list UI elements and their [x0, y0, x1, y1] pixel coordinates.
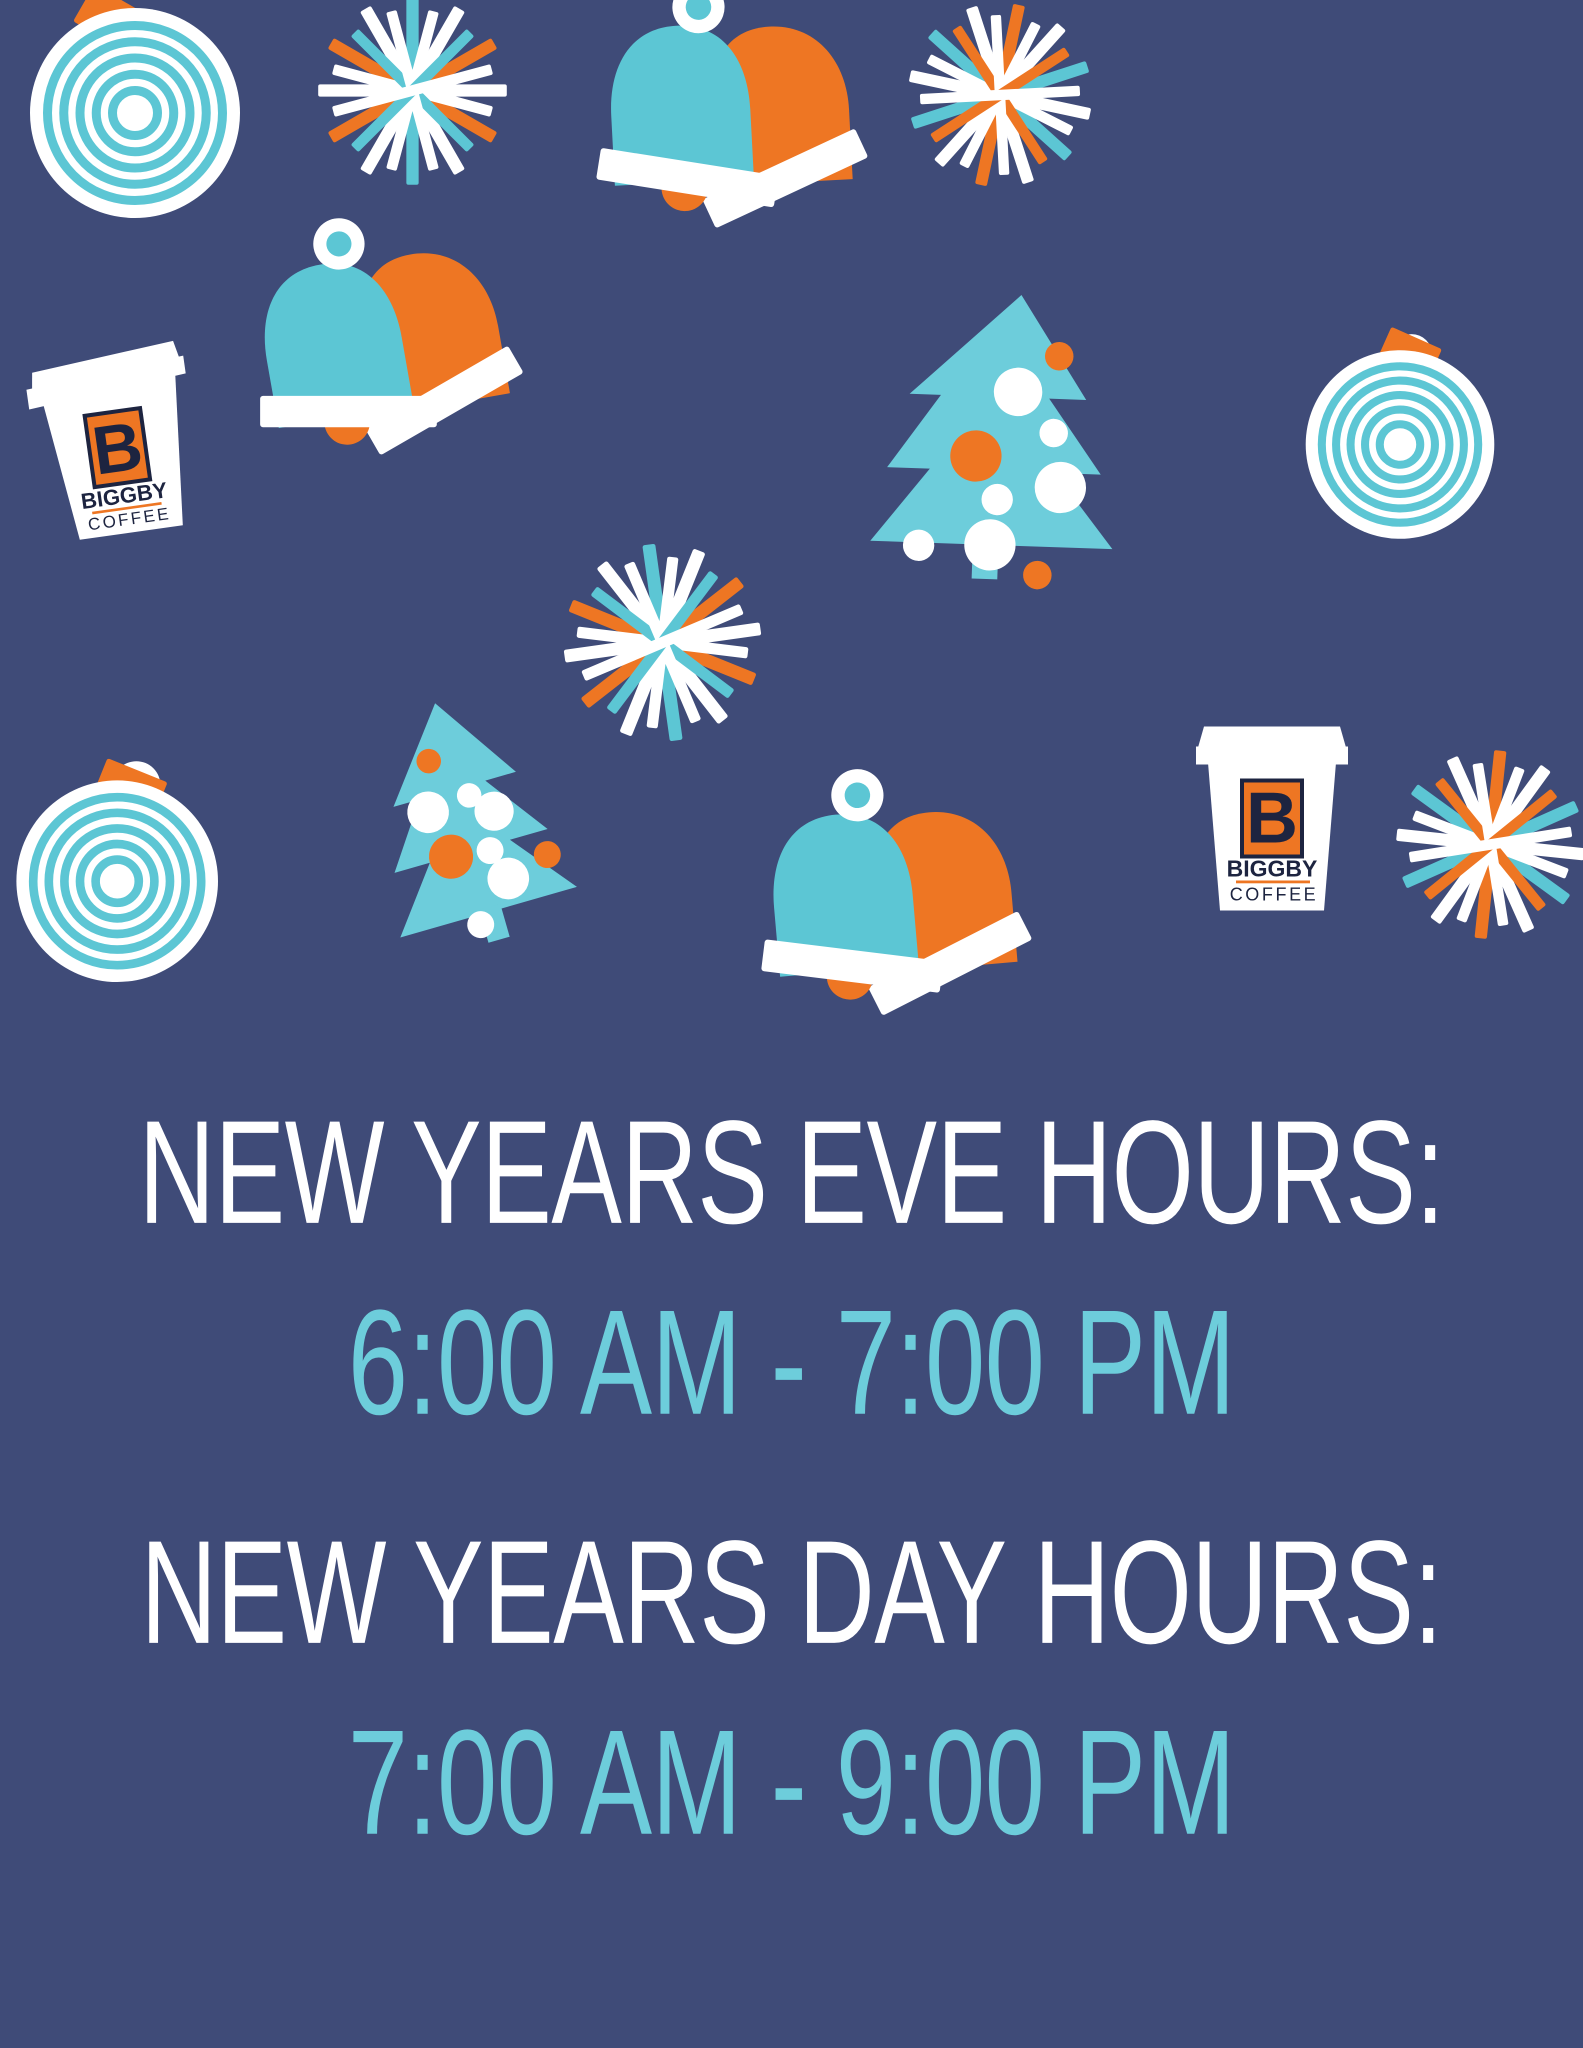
christmas-tree-decoration	[840, 282, 1125, 582]
christmas-tree-decoration	[345, 685, 590, 950]
svg-text:B: B	[1246, 779, 1298, 859]
starburst-icon	[310, 0, 515, 193]
ornament-ball-decoration	[10, 0, 260, 228]
holiday-hours-poster: B BIGGBY COFFEE	[0, 0, 1583, 2048]
ornament-ball-decoration	[2, 742, 242, 982]
coffee-cup-decoration: B BIGGBY COFFEE	[14, 318, 214, 548]
new-years-day-hours: 7:00 AM - 9:00 PM	[47, 1709, 1535, 1859]
new-years-day-heading: NEW YEARS DAY HOURS:	[63, 1520, 1519, 1667]
new-years-eve-heading: NEW YEARS EVE HOURS:	[63, 1100, 1519, 1247]
bell-pair-decoration	[730, 752, 1055, 1042]
bell-pair-decoration	[565, 0, 895, 255]
svg-text:BIGGBY: BIGGBY	[1227, 856, 1318, 882]
decoration-band: B BIGGBY COFFEE	[0, 0, 1583, 1060]
hours-announcement: NEW YEARS EVE HOURS: 6:00 AM - 7:00 PM N…	[0, 1100, 1583, 2048]
svg-text:B: B	[88, 408, 147, 490]
svg-text:COFFEE: COFFEE	[1230, 885, 1319, 905]
starburst-icon	[900, 0, 1100, 195]
coffee-cup-decoration: B BIGGBY COFFEE	[1172, 688, 1372, 923]
bell-pair-decoration	[222, 198, 542, 483]
new-years-eve-hours: 6:00 AM - 7:00 PM	[47, 1289, 1535, 1439]
starburst-icon	[1388, 742, 1583, 947]
ornament-ball-decoration	[1285, 318, 1515, 548]
